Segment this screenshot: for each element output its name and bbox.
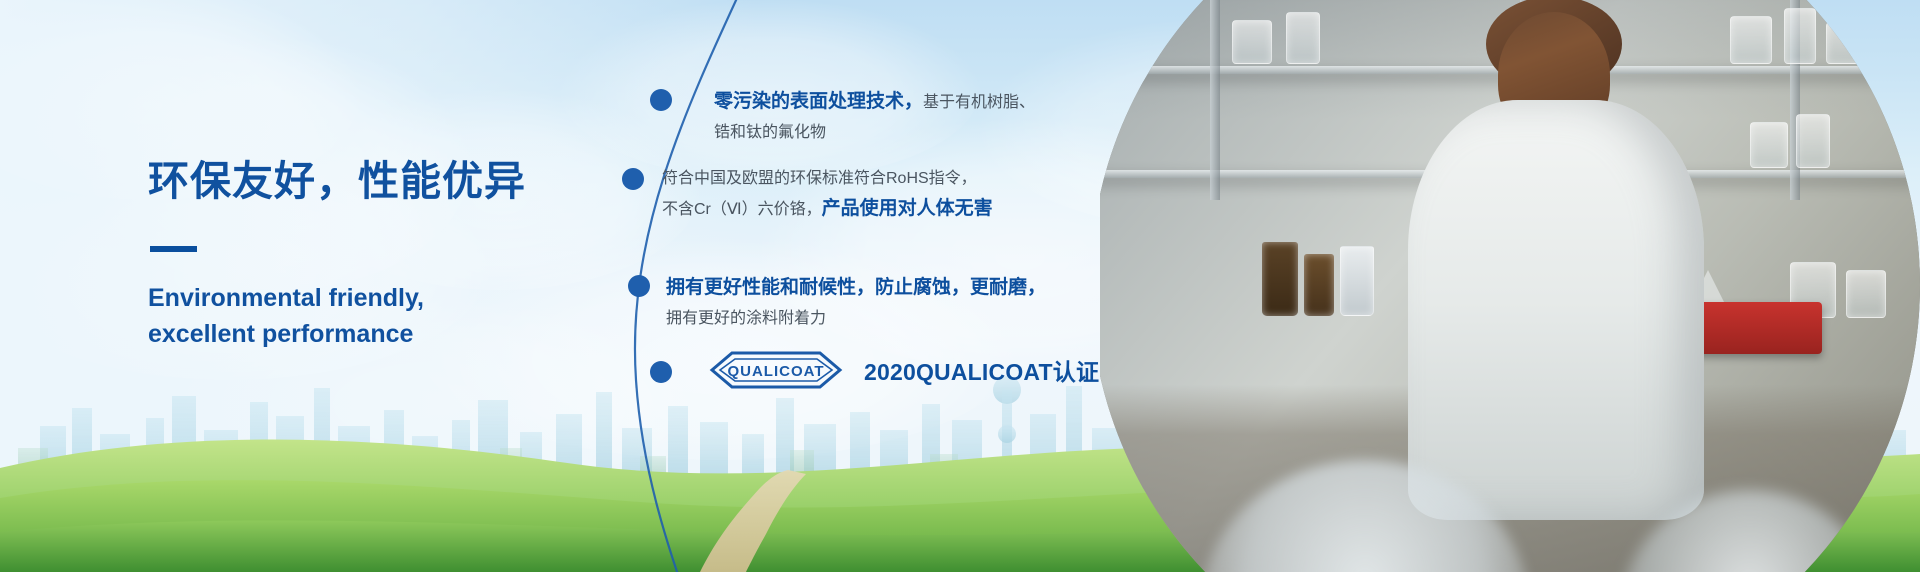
feature-item-1-strong: 零污染的表面处理技术， [714,91,923,112]
glassware [1784,8,1816,64]
page-title-en: Environmental friendly, excellent perfor… [148,280,628,353]
page-title-cn: 环保友好，性能优异 [148,158,628,205]
feature-item-1: 零污染的表面处理技术，基于有机树脂、 锆和钛的氟化物 [714,86,1035,146]
bullet-dot-1 [650,89,672,111]
bullet-dot-3 [628,275,650,297]
glassware [1750,122,1788,168]
feature-item-3-line2: 拥有更好的涂料附着力 [666,305,1046,333]
reagent-bottle [1262,242,1298,316]
reagent-bottle [1304,254,1334,316]
glassware [1232,20,1272,64]
certification-row: QUALICOAT 2020QUALICOAT认证 [702,349,1099,391]
feature-item-2: 符合中国及欧盟的环保标准符合RoHS指令， 不含Cr（Ⅵ）六价铬，产品使用对人体… [662,165,993,225]
feature-item-2-line2-strong: 产品使用对人体无害 [822,198,993,219]
glassware [1730,16,1772,64]
feature-item-2-line2: 不含Cr（Ⅵ）六价铬，产品使用对人体无害 [662,193,993,226]
shelf-upright [1210,0,1220,200]
feature-list: 零污染的表面处理技术，基于有机树脂、 锆和钛的氟化物 符合中国及欧盟的环保标准符… [640,0,1160,572]
feature-item-3-line1: 拥有更好性能和耐候性，防止腐蚀，更耐磨， [666,272,1046,305]
feature-item-3-line1-strong: 拥有更好性能和耐候性，防止腐蚀，更耐磨， [666,277,1046,298]
svg-text:QUALICOAT: QUALICOAT [727,363,824,380]
feature-item-3: 拥有更好性能和耐候性，防止腐蚀，更耐磨， 拥有更好的涂料附着力 [666,272,1046,332]
lab-coat [1408,100,1704,520]
title-divider [150,246,197,252]
bullet-dot-4 [650,361,672,383]
glassware [1796,114,1830,168]
feature-item-1-line2-normal: 锆和钛的氟化物 [714,124,826,141]
reagent-bottle [1340,246,1374,316]
bullet-dot-2 [622,168,644,190]
laboratory-scientist-photo [1100,0,1920,572]
feature-item-1-line1: 零污染的表面处理技术，基于有机树脂、 [714,86,1035,119]
feature-item-1-normal: 基于有机树脂、 [923,94,1035,111]
headline-block: 环保友好，性能优异 Environmental friendly, excell… [148,158,628,353]
page-title-en-line2: excellent performance [148,316,628,352]
feature-item-3-line2-normal: 拥有更好的涂料附着力 [666,310,826,327]
lab-scene [1100,0,1920,572]
feature-item-2-line1: 符合中国及欧盟的环保标准符合RoHS指令， [662,165,993,193]
scientist-figure [1390,0,1720,510]
beaker [1846,270,1886,318]
feature-item-2-line1-normal: 符合中国及欧盟的环保标准符合RoHS指令， [662,170,977,187]
certification-label: 2020QUALICOAT认证 [864,353,1099,387]
feature-item-2-line2-normal: 不含Cr（Ⅵ）六价铬， [662,201,822,218]
promo-banner: 环保友好，性能优异 Environmental friendly, excell… [0,0,1920,572]
feature-item-1-line2: 锆和钛的氟化物 [714,119,1035,147]
glassware [1826,22,1870,64]
glassware [1286,12,1320,64]
photo-container [1100,0,1920,572]
qualicoat-logo-icon: QUALICOAT [702,349,850,391]
page-title-en-line1: Environmental friendly, [148,280,628,316]
